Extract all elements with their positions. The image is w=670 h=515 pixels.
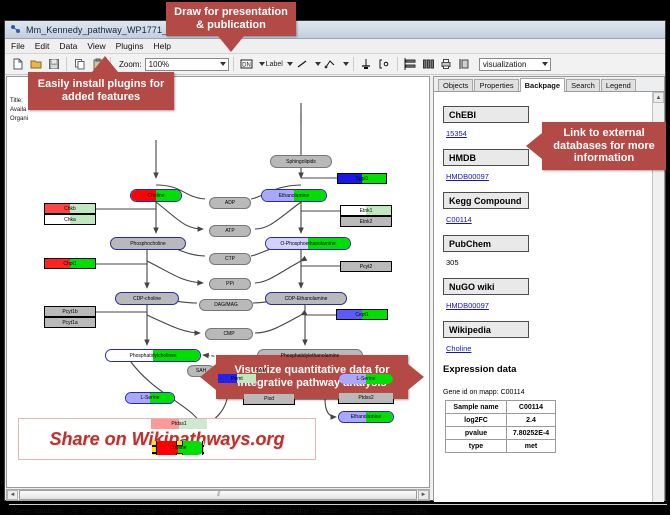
tab-search[interactable]: Search — [566, 79, 600, 91]
pathway-organism-label: Organi — [10, 116, 28, 122]
cell-key: type — [446, 440, 507, 453]
selection-handle[interactable] — [176, 440, 183, 446]
node-label: Choline — [170, 445, 187, 451]
pathway-gene-etnk1[interactable]: Etnk1 — [340, 205, 392, 216]
section-nugo-wiki: NuGO wiki — [443, 278, 529, 295]
pathway-gene-cept1[interactable]: Cept1 — [336, 309, 388, 320]
scroll-grip-icon: ⦀ — [216, 491, 219, 499]
section-pubchem-label: PubChem — [449, 239, 491, 249]
pathway-node-l-serine-left[interactable]: L-Serine — [125, 392, 175, 404]
pathway-node-choline-top[interactable]: Choline — [130, 189, 182, 202]
node-label: Phosphatidylethanolamine — [281, 353, 340, 359]
pathway-node-cdp-ethanolamine[interactable]: CDP-Ethanolamine — [265, 292, 347, 305]
section-hmdb-label: HMDB — [449, 153, 476, 163]
gene-label: Chpt1 — [63, 261, 76, 267]
toolbar-separator-5 — [397, 57, 398, 71]
toolbar-separator-1 — [66, 57, 67, 71]
node-label: L-Serine — [141, 395, 160, 401]
svg-text:DN: DN — [242, 63, 251, 69]
cell-value: 2.4 — [507, 414, 556, 427]
menu-view[interactable]: View — [86, 41, 106, 51]
node-label: Sphingolipids — [286, 159, 316, 165]
pathvisio-icon — [10, 24, 21, 35]
canvas-horizontal-scrollbar[interactable]: ◄ ⦀ ► — [6, 489, 430, 501]
gene-label: Ptdss2 — [358, 395, 373, 401]
anchor-icon[interactable] — [358, 56, 375, 73]
toolbar-separator-4 — [353, 57, 354, 71]
pathway-gene-chka[interactable]: Chka — [44, 214, 96, 225]
zoom-value: 100% — [149, 60, 169, 69]
gene-label: Chka — [64, 217, 76, 223]
pathway-node-ppi[interactable]: PPi — [209, 278, 251, 290]
gene-label: Cept1 — [355, 312, 368, 318]
menu-file[interactable]: File — [10, 41, 26, 51]
node-label: Ethanolamine — [351, 414, 382, 420]
pathway-gene-etnk2[interactable]: Etnk2 — [340, 216, 392, 227]
pathway-node-l-serine-right[interactable]: L-Serine — [338, 373, 394, 385]
selection-handle[interactable] — [151, 446, 157, 453]
pathway-gene-pemt[interactable]: Pemt — [217, 373, 257, 384]
menu-edit[interactable]: Edit — [34, 41, 51, 51]
gene-label: Chkb — [64, 206, 76, 212]
cell-key: Sample name — [446, 401, 507, 414]
distribute-icon[interactable] — [420, 56, 437, 73]
node-label: ADP — [225, 200, 235, 206]
node-label: PPi — [226, 281, 234, 287]
node-label: Choline — [148, 193, 165, 199]
chebi-link[interactable]: 15354 — [446, 129, 467, 138]
cell-value: met — [507, 440, 556, 453]
pathway-node-cdp-choline[interactable]: CDP-choline — [115, 292, 179, 305]
pathway-gene-pcyt1a[interactable]: Pcyt1a — [44, 317, 96, 328]
node-label: CMP — [223, 331, 234, 337]
tab-legend[interactable]: Legend — [601, 79, 636, 91]
shape-chevron-down-icon[interactable] — [343, 62, 349, 66]
gene-label: Etnk1 — [360, 208, 373, 214]
cell-key: log2FC — [446, 414, 507, 427]
stack-icon[interactable] — [456, 56, 473, 73]
screenshot-root: Mm_Kennedy_pathway_WP1771_45176.gpml Fil… — [0, 0, 670, 509]
node-label: ATP — [225, 228, 234, 234]
node-label: Phosphatidylcholines — [130, 353, 177, 359]
pathway-node-phosphocholine[interactable]: Phosphocholine — [110, 237, 186, 250]
pathway-gene-ptdss2[interactable]: Ptdss2 — [338, 392, 394, 404]
scroll-left-icon[interactable]: ◄ — [7, 490, 18, 500]
node-label: Ethanolamine — [279, 193, 310, 199]
pathway-node-adp[interactable]: ADP — [209, 197, 251, 209]
status-bar-text: | Gene database: ...m_Derby_20120602.bri… — [11, 508, 427, 515]
print-icon[interactable] — [438, 56, 455, 73]
pathway-gene-chpt1[interactable]: Chpt1 — [44, 258, 96, 269]
callout-plugins: Easily install plugins for added feature… — [28, 72, 174, 110]
wikipedia-link[interactable]: Choline — [446, 344, 471, 353]
visualization-value: visualization — [483, 60, 527, 69]
callout-visualize-right-arrow-icon — [408, 364, 424, 390]
node-label: SAH — [196, 368, 206, 374]
expression-data-title: Expression data — [443, 364, 516, 375]
pathway-node-ethanolamine-right[interactable]: Ethanolamine — [338, 411, 394, 423]
section-chebi: ChEBI — [443, 106, 529, 123]
hmdb-link[interactable]: HMDB00097 — [446, 172, 489, 181]
section-pubchem: PubChem — [443, 235, 529, 252]
node-label: L-Serine — [357, 376, 376, 382]
menu-help[interactable]: Help — [153, 41, 172, 51]
section-kegg-label: Kegg Compound — [449, 196, 522, 206]
open-folder-icon[interactable] — [27, 56, 44, 73]
gene-label: Pcyt1b — [62, 309, 77, 315]
pathway-node-cmp[interactable]: CMP — [205, 328, 253, 340]
section-wikipedia: Wikipedia — [443, 321, 529, 338]
section-chebi-label: ChEBI — [449, 110, 476, 120]
pathway-gene-pcyt1b[interactable]: Pcyt1b — [44, 306, 96, 317]
copy-icon[interactable] — [71, 56, 88, 73]
gene-label: Pcyt1a — [62, 320, 77, 326]
scroll-right-icon[interactable]: ► — [418, 490, 429, 500]
gene-label: Ptdss1 — [171, 421, 186, 427]
node-label: O-Phosphoethanolamine — [280, 241, 335, 247]
new-file-icon[interactable] — [9, 56, 26, 73]
callout-link-arrow-icon — [526, 133, 542, 159]
pathway-node-ethanolamine-top[interactable]: Ethanolamine — [261, 189, 327, 202]
callout-plugins-arrow-icon — [92, 56, 118, 72]
pathway-node-phosphatidylcholines[interactable]: Phosphatidylcholines — [105, 349, 201, 362]
bracket-icon[interactable] — [376, 56, 393, 73]
node-label: CDP-Ethanolamine — [285, 296, 328, 302]
pathway-node-sphingolipids[interactable]: Sphingolipids — [270, 155, 332, 168]
zoom-label: Zoom: — [119, 60, 142, 69]
tab-properties[interactable]: Properties — [474, 79, 518, 91]
visualization-chevron-down-icon — [542, 62, 548, 66]
gene-label: Etnk2 — [360, 219, 373, 225]
table-row: type met — [446, 440, 556, 453]
datanode-icon[interactable]: DN — [238, 56, 255, 73]
pathway-gene-ptdss1[interactable]: Ptdss1 — [150, 418, 208, 430]
window-title-bar: Mm_Kennedy_pathway_WP1771_45176.gpml — [5, 21, 665, 39]
node-label: DAG/MAG — [214, 302, 238, 308]
tab-backpage[interactable]: Backpage — [520, 78, 565, 92]
save-icon[interactable] — [45, 56, 62, 73]
callout-link: Link to external databases for more info… — [542, 122, 666, 170]
table-row: log2FC 2.4 — [446, 414, 556, 427]
gene-id-on-mapp: Gene id on mapp: C00114 — [443, 389, 525, 396]
chevron-down-icon — [220, 62, 226, 66]
scroll-thumb[interactable]: ⦀ — [19, 490, 417, 500]
pathway-gene-pcyt2[interactable]: Pcyt2 — [340, 261, 392, 272]
table-row: pvalue 7.80252E-4 — [446, 427, 556, 440]
callout-draw: Draw for presentation & publication — [166, 2, 296, 36]
pathway-available-label: Availa — [10, 107, 26, 113]
pathway-node-choline-selected[interactable]: Choline — [151, 440, 205, 456]
cell-value: 7.80252E-4 — [507, 427, 556, 440]
pathway-node-ophosphoethanolamine[interactable]: O-Phosphoethanolamine — [265, 237, 351, 250]
pathway-node-dagmag[interactable]: DAG/MAG — [199, 299, 253, 311]
zoom-combobox[interactable]: 100% — [145, 58, 229, 71]
datanode-chevron-down-icon[interactable] — [259, 62, 265, 66]
kegg-link[interactable]: C00114 — [446, 215, 472, 224]
menu-data[interactable]: Data — [58, 41, 78, 51]
shape-tool-icon[interactable] — [322, 56, 339, 73]
line-chevron-down-icon[interactable] — [315, 62, 321, 66]
tab-objects[interactable]: Objects — [438, 79, 473, 91]
pathway-title-label: Title: — [10, 98, 23, 104]
line-tool-icon[interactable] — [294, 56, 311, 73]
pathway-node-ctp[interactable]: CTP — [209, 253, 251, 265]
gene-label: Pcyt2 — [360, 264, 373, 270]
nugo-link[interactable]: HMDB00097 — [446, 301, 489, 310]
visualization-combobox[interactable]: visualization — [479, 58, 551, 71]
status-bar-divider — [9, 504, 667, 505]
node-label: CTP — [225, 256, 235, 262]
scroll-up-icon[interactable]: ▲ — [653, 92, 664, 103]
node-label: SAM — [256, 368, 267, 374]
expression-data-table: Sample name C00114 log2FC 2.4 pvalue 7.8… — [445, 400, 556, 453]
pathway-gene-pisd[interactable]: Pisd — [243, 393, 295, 405]
toolbar-separator-3 — [233, 57, 234, 71]
label-tool-label[interactable]: Label — [266, 61, 283, 68]
section-kegg-compound: Kegg Compound — [443, 192, 529, 209]
menu-plugins[interactable]: Plugins — [115, 41, 145, 51]
node-label: CDP-choline — [133, 296, 161, 302]
gene-label: Pemt — [231, 376, 243, 382]
cell-key: pvalue — [446, 427, 507, 440]
section-wikipedia-label: Wikipedia — [449, 325, 491, 335]
section-hmdb: HMDB — [443, 149, 529, 166]
cell-value: C00114 — [507, 401, 556, 414]
callout-draw-arrow-icon — [218, 36, 244, 52]
gene-label: Pisd — [264, 396, 274, 402]
gene-label: Sgpl1 — [356, 176, 369, 182]
table-row: Sample name C00114 — [446, 401, 556, 414]
pubchem-value: 305 — [446, 258, 459, 267]
side-panel-tabs: Objects Properties Backpage Search Legen… — [434, 77, 664, 92]
section-nugo-label: NuGO wiki — [449, 282, 495, 292]
label-chevron-down-icon[interactable] — [287, 62, 293, 66]
pathway-node-atp[interactable]: ATP — [209, 225, 251, 237]
align-icon[interactable] — [402, 56, 419, 73]
menu-bar: File Edit Data View Plugins Help — [5, 39, 665, 54]
node-label: Phosphocholine — [130, 241, 166, 247]
pathway-gene-sgpl1[interactable]: Sgpl1 — [337, 173, 387, 184]
pathway-gene-chkb[interactable]: Chkb — [44, 203, 96, 214]
